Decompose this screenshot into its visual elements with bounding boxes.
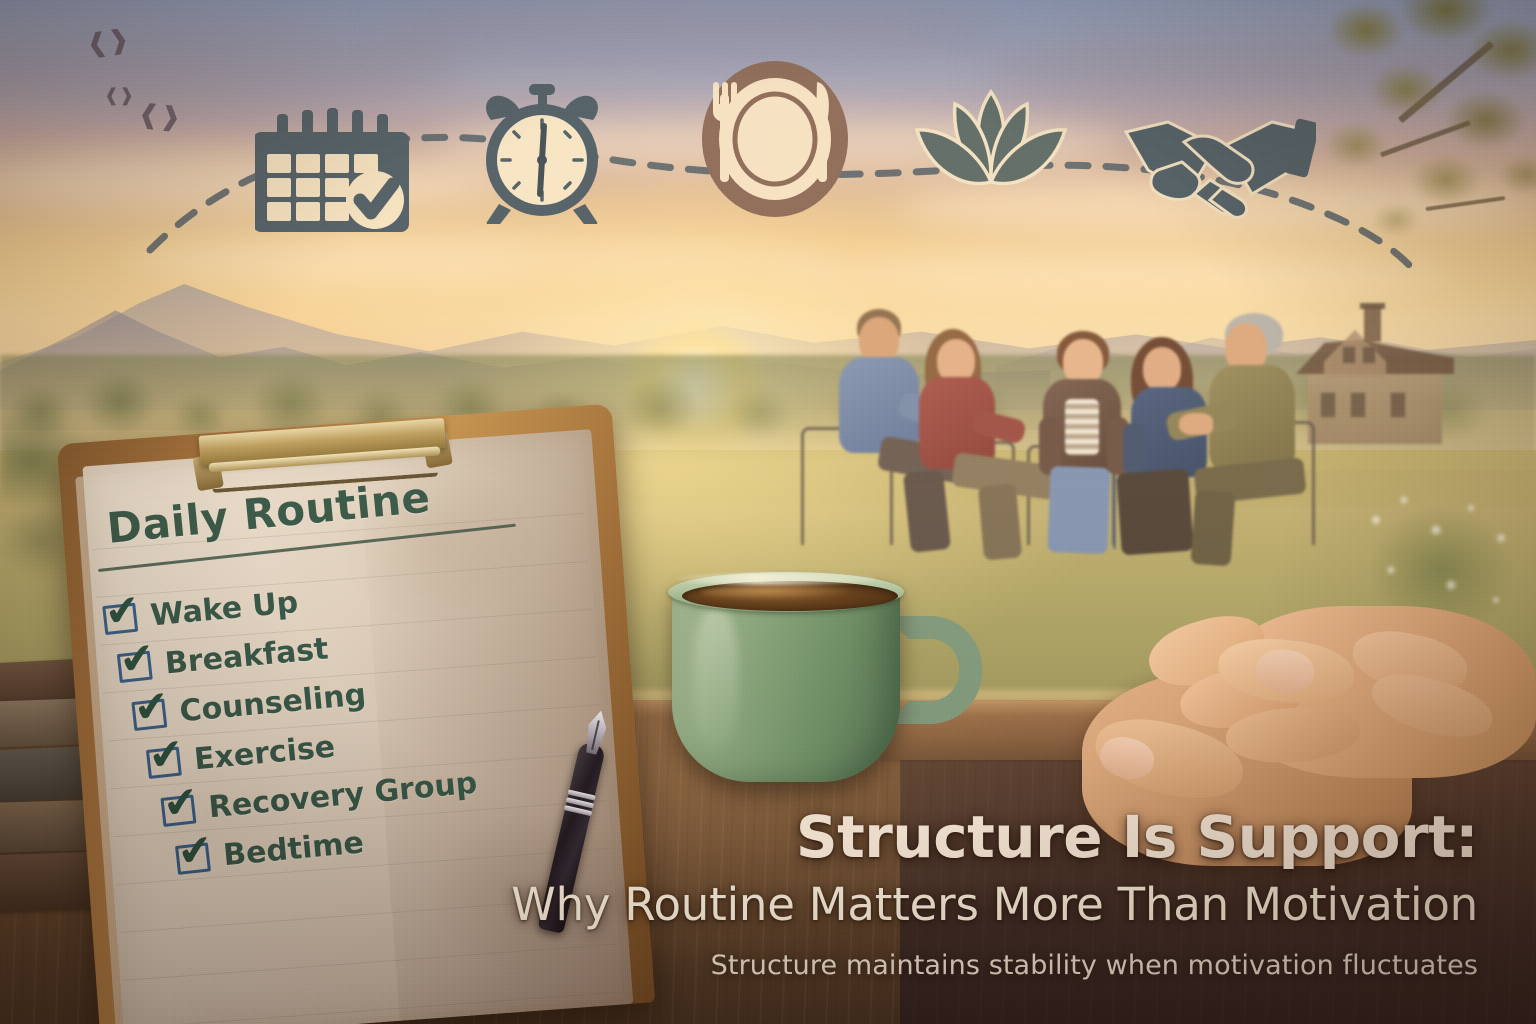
check-icon: ✔ [103,589,147,633]
mug-rim-highlight [676,573,876,585]
checklist-item-label: Breakfast [164,631,330,681]
check-icon: ✔ [146,733,190,777]
icon-row [0,0,1536,290]
mug-highlight [694,608,738,748]
house-chimney [1364,306,1381,342]
house-window [1362,346,1376,364]
coffee-mug[interactable] [672,556,982,804]
check-icon: ✔ [117,637,161,681]
checkbox[interactable]: ✔ [117,651,153,683]
tagline: Structure maintains stability when motiv… [352,950,1478,981]
checkbox[interactable]: ✔ [131,699,167,731]
check-icon: ✔ [132,685,176,729]
checkbox[interactable]: ✔ [175,842,211,874]
checkbox[interactable]: ✔ [160,794,196,826]
check-icon: ✔ [176,829,220,873]
poster-canvas: ❰❱ ❰❱ ❰❱ [0,0,1536,1024]
checkbox[interactable]: ✔ [102,603,138,635]
house-window [1350,392,1366,418]
checklist-item-label: Bedtime [222,825,366,873]
checklist-item-label: Wake Up [149,585,300,634]
house-window [1390,392,1406,418]
coffee-foam [700,585,850,599]
house-window [1342,346,1356,364]
house-chimney-cap [1360,303,1385,309]
checkbox[interactable]: ✔ [146,747,182,779]
check-icon: ✔ [161,781,205,825]
support-group [795,295,1335,595]
title-block: Structure Is Support: Why Routine Matter… [352,808,1536,1024]
mug-handle [886,616,982,724]
headline: Structure Is Support: [352,808,1478,867]
subheadline: Why Routine Matters More Than Motivation [352,881,1478,928]
checklist-item-label: Exercise [193,729,337,777]
